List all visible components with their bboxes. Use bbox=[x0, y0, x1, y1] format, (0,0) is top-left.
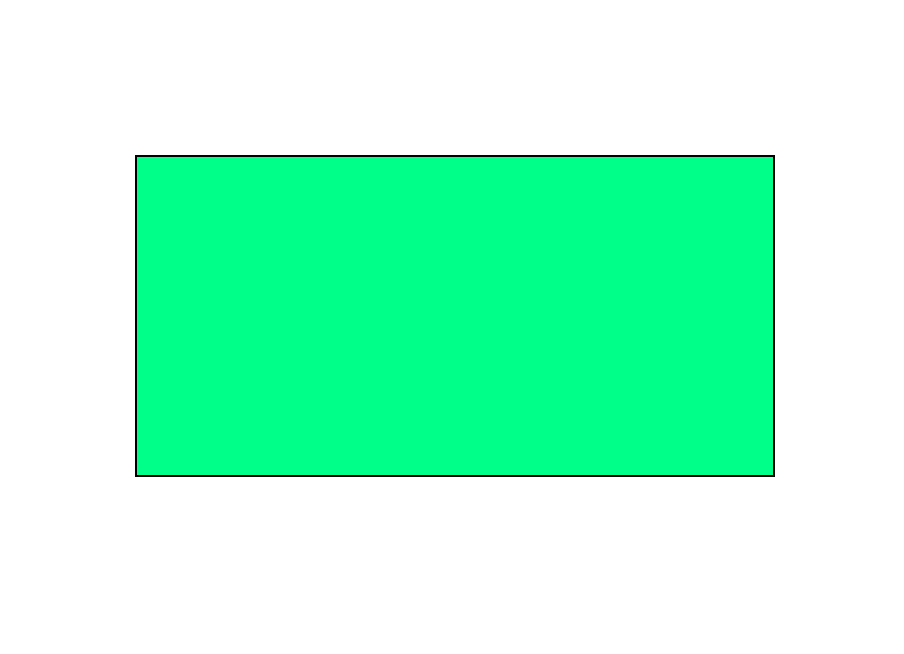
colorbar bbox=[781, 196, 811, 526]
vertical-velocity-field bbox=[137, 157, 773, 475]
contour-plot-area bbox=[135, 155, 775, 477]
